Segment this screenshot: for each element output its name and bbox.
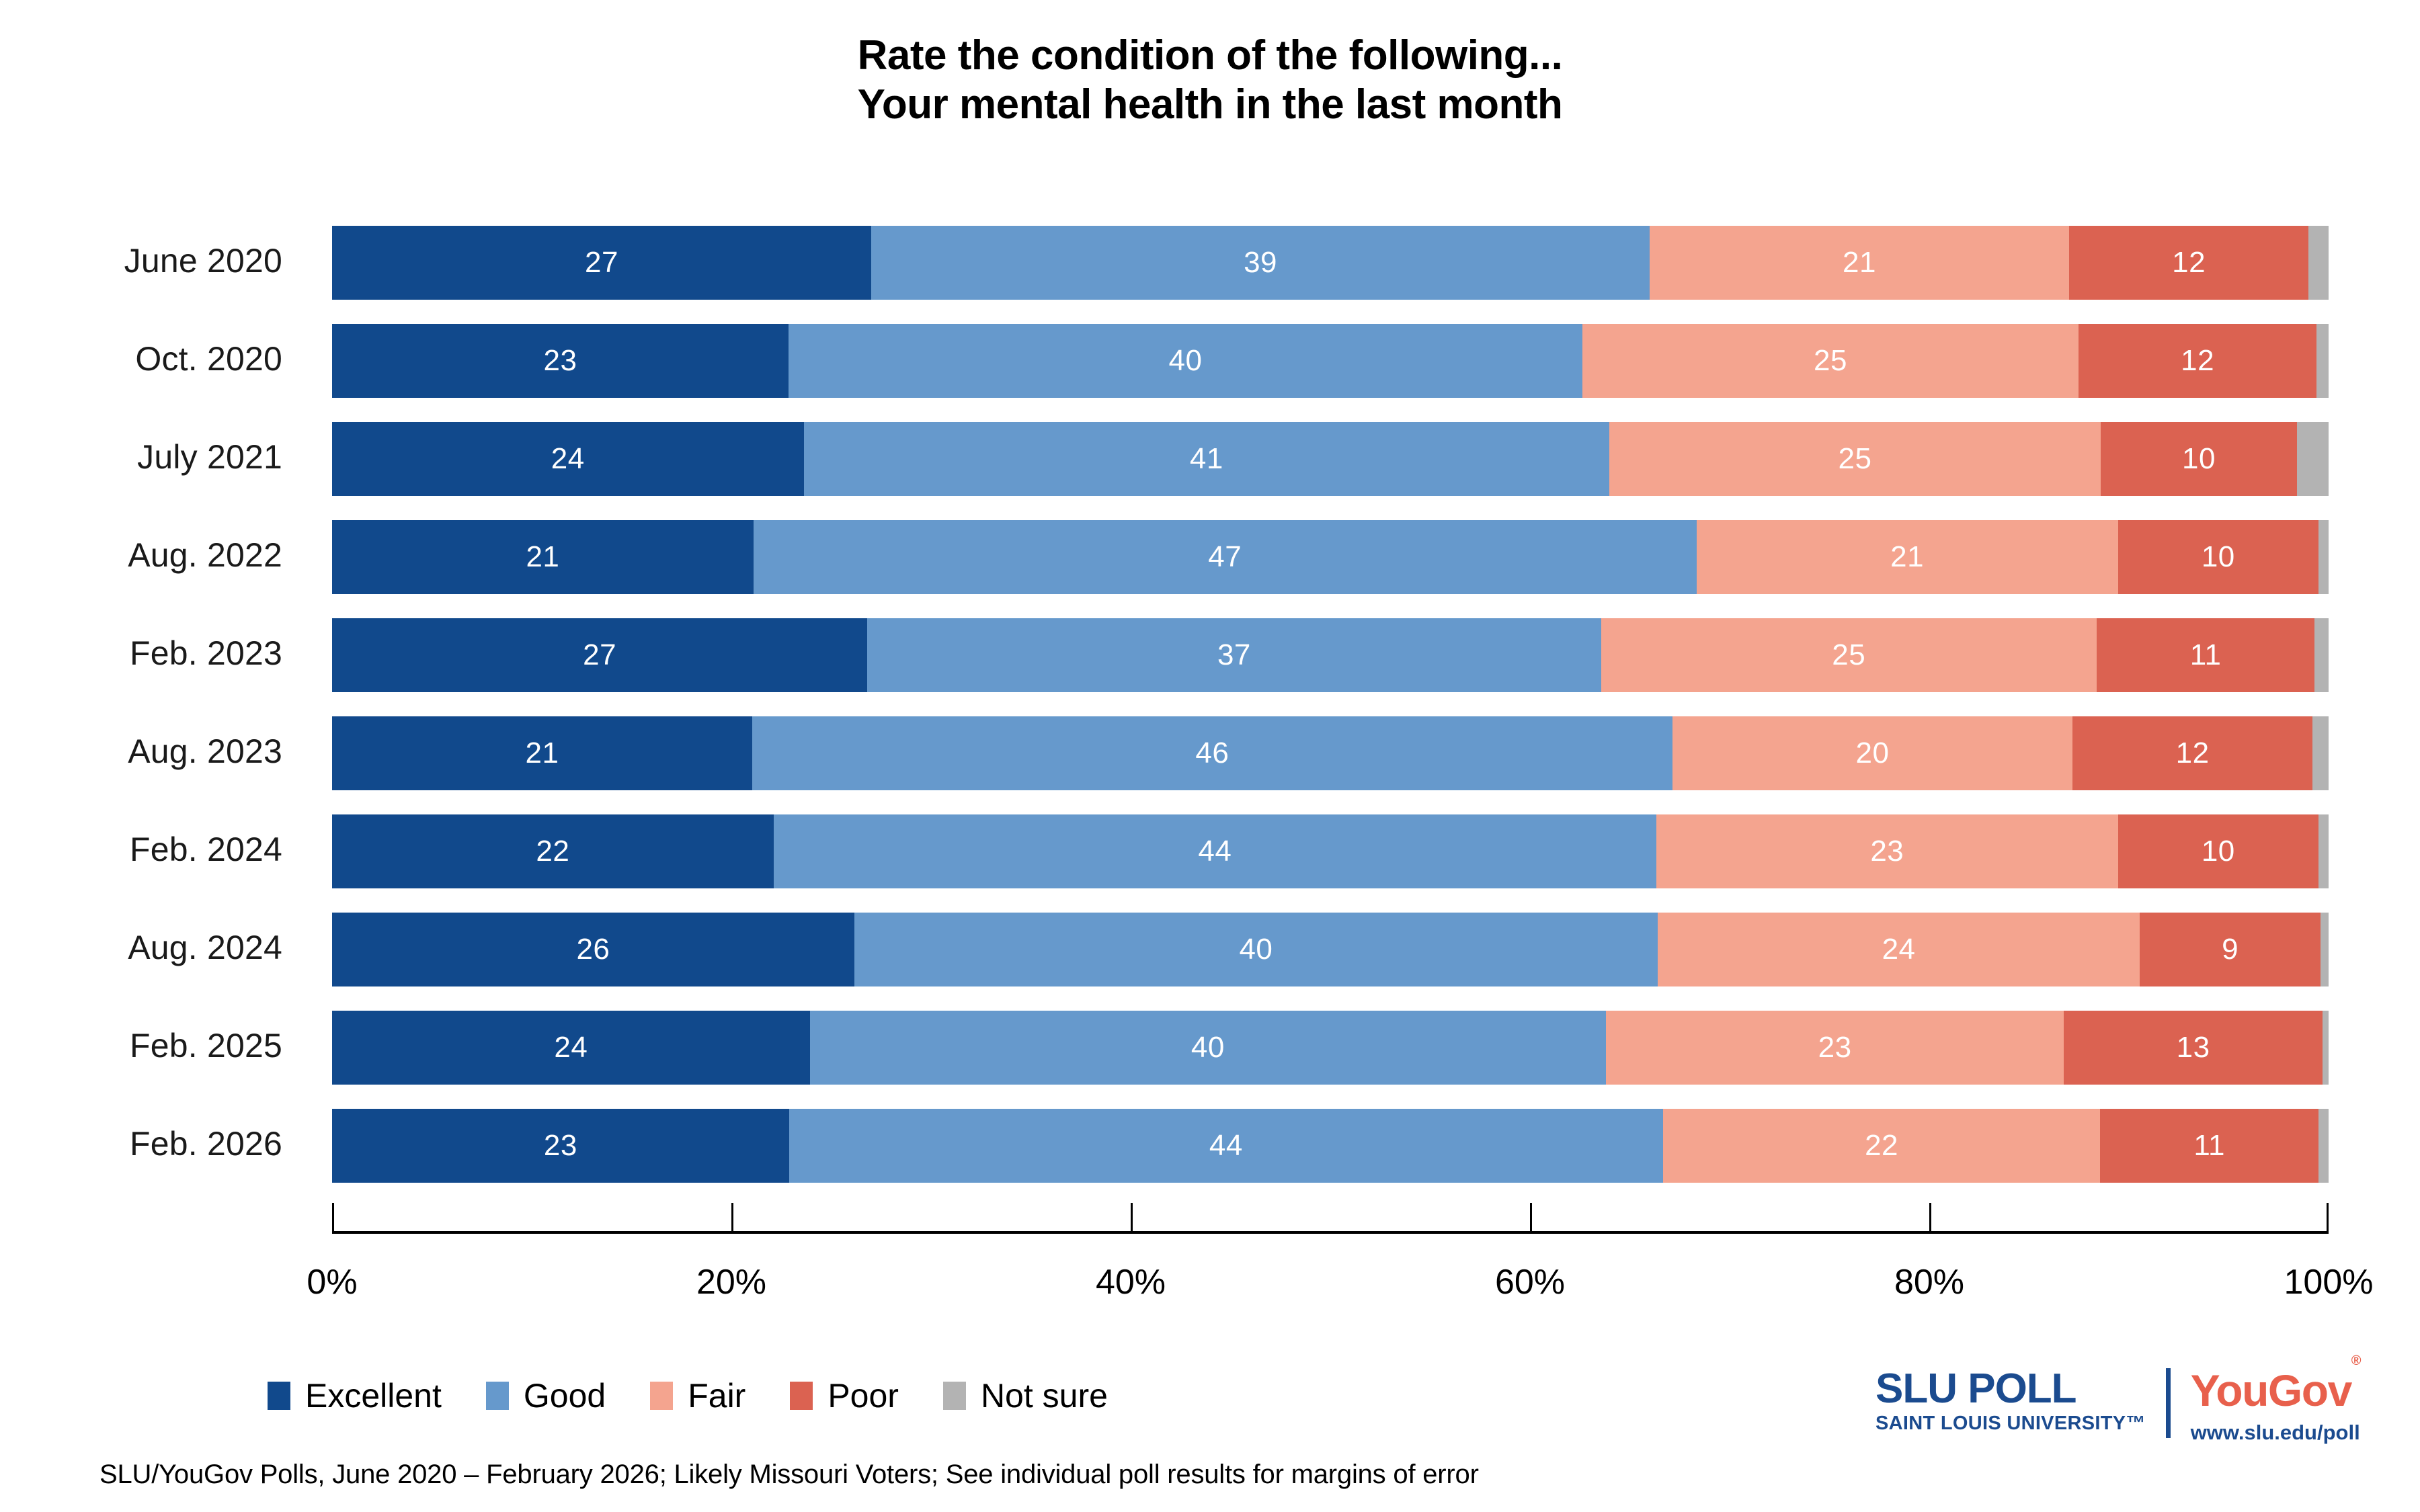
bar-value-label: 46 — [1195, 739, 1229, 768]
x-axis-tick — [2327, 1203, 2329, 1231]
legend-item-excellent[interactable]: Excellent — [268, 1376, 442, 1415]
legend-label: Good — [524, 1376, 606, 1415]
bar-value-label: 23 — [544, 1131, 577, 1161]
bar-segment-not-sure[interactable] — [2318, 1109, 2329, 1183]
bar-segment-excellent[interactable]: 23 — [332, 324, 789, 398]
bar-value-label: 47 — [1208, 542, 1242, 572]
category-label: June 2020 — [124, 241, 282, 280]
bar-value-label: 25 — [1839, 444, 1872, 474]
bar-segment-fair[interactable]: 21 — [1697, 520, 2118, 594]
x-axis-tick-label: 0% — [307, 1262, 357, 1302]
legend-item-good[interactable]: Good — [486, 1376, 606, 1415]
bar-segment-not-sure[interactable] — [2318, 520, 2329, 594]
bar-value-label: 24 — [551, 444, 585, 474]
bar-segment-excellent[interactable]: 27 — [332, 618, 867, 692]
category-label: Aug. 2022 — [128, 536, 282, 575]
category-label: Feb. 2026 — [130, 1124, 282, 1163]
legend-label: Fair — [688, 1376, 745, 1415]
legend-swatch-icon — [486, 1382, 509, 1410]
bar-value-label: 21 — [1890, 542, 1924, 572]
legend-label: Poor — [828, 1376, 899, 1415]
bar-value-label: 23 — [1870, 837, 1904, 866]
x-axis-tick — [1929, 1203, 1931, 1231]
registered-mark-icon: ® — [2351, 1353, 2360, 1368]
bar-value-label: 25 — [1832, 640, 1865, 670]
bar-segment-not-sure[interactable] — [2312, 716, 2329, 790]
legend-swatch-icon — [943, 1382, 966, 1410]
x-axis-tick-label: 80% — [1894, 1262, 1964, 1302]
bar-value-label: 11 — [2190, 640, 2222, 670]
bar-segment-good[interactable]: 44 — [789, 1109, 1663, 1183]
category-label: July 2021 — [137, 437, 282, 476]
bar-segment-poor[interactable]: 9 — [2140, 913, 2321, 986]
bar-value-label: 13 — [2177, 1033, 2210, 1062]
bar-segment-good[interactable]: 40 — [854, 913, 1658, 986]
bar-segment-fair[interactable]: 21 — [1650, 226, 2069, 300]
legend-swatch-icon — [268, 1382, 290, 1410]
category-label: Oct. 2020 — [135, 339, 282, 378]
category-axis-labels: June 2020Oct. 2020July 2021Aug. 2022Feb.… — [0, 214, 309, 1195]
stacked-bar-plot: 2739211223402512244125102147211027372511… — [332, 214, 2329, 1195]
x-axis — [332, 1231, 2329, 1234]
category-label: Feb. 2025 — [130, 1026, 282, 1065]
yougov-logo: YouGov® www.slu.edu/poll — [2191, 1368, 2360, 1443]
bar-segment-excellent[interactable]: 21 — [332, 520, 754, 594]
bar-value-label: 39 — [1244, 248, 1277, 278]
slu-university-text: SAINT LOUIS UNIVERSITY™ — [1876, 1414, 2146, 1433]
bar-segment-good[interactable]: 47 — [754, 520, 1697, 594]
logo-area: SLU POLL SAINT LOUIS UNIVERSITY™ YouGov®… — [1876, 1368, 2386, 1489]
bar-segment-good[interactable]: 44 — [774, 814, 1656, 888]
bar-segment-poor[interactable]: 10 — [2118, 520, 2318, 594]
x-axis-tick-label: 20% — [696, 1262, 766, 1302]
bar-segment-fair[interactable]: 25 — [1601, 618, 2097, 692]
x-axis-tick — [332, 1203, 334, 1231]
bar-value-label: 12 — [2172, 248, 2206, 278]
bar-value-label: 10 — [2202, 837, 2235, 866]
chart-legend: ExcellentGoodFairPoorNot sure — [268, 1376, 1152, 1415]
bar-segment-good[interactable]: 40 — [810, 1011, 1606, 1085]
bar-segment-excellent[interactable]: 27 — [332, 226, 871, 300]
bar-segment-not-sure[interactable] — [2323, 1011, 2329, 1085]
bar-value-label: 40 — [1191, 1033, 1225, 1062]
bar-segment-excellent[interactable]: 24 — [332, 1011, 810, 1085]
bar-row: 27392112 — [332, 226, 2329, 300]
bar-value-label: 21 — [526, 542, 559, 572]
bar-value-label: 12 — [2176, 739, 2210, 768]
title-line-2: Your mental health in the last month — [0, 80, 2420, 129]
bar-value-label: 20 — [1855, 739, 1889, 768]
bar-segment-fair[interactable]: 24 — [1658, 913, 2140, 986]
legend-swatch-icon — [790, 1382, 813, 1410]
bar-segment-not-sure[interactable] — [2316, 324, 2329, 398]
category-label: Feb. 2024 — [130, 830, 282, 869]
bar-segment-poor[interactable]: 10 — [2118, 814, 2318, 888]
bar-segment-poor[interactable]: 10 — [2101, 422, 2297, 496]
bar-value-label: 24 — [554, 1033, 588, 1062]
x-axis-tick — [1530, 1203, 1532, 1231]
bar-segment-fair[interactable]: 22 — [1663, 1109, 2100, 1183]
bar-segment-poor[interactable]: 13 — [2064, 1011, 2323, 1085]
bar-segment-poor[interactable]: 12 — [2072, 716, 2312, 790]
slu-poll-logo: SLU POLL SAINT LOUIS UNIVERSITY™ — [1876, 1368, 2146, 1433]
x-axis-tick-label: 40% — [1096, 1262, 1166, 1302]
bar-segment-fair[interactable]: 20 — [1672, 716, 2072, 790]
legend-item-not-sure[interactable]: Not sure — [943, 1376, 1108, 1415]
bar-row: 23402512 — [332, 324, 2329, 398]
bar-segment-good[interactable]: 41 — [804, 422, 1610, 496]
bar-segment-not-sure[interactable] — [2314, 618, 2329, 692]
bar-segment-excellent[interactable]: 21 — [332, 716, 752, 790]
bar-segment-poor[interactable]: 12 — [2079, 324, 2316, 398]
bar-segment-excellent[interactable]: 22 — [332, 814, 774, 888]
bar-segment-poor[interactable]: 11 — [2097, 618, 2314, 692]
bar-segment-not-sure[interactable] — [2321, 913, 2329, 986]
bar-row: 21462012 — [332, 716, 2329, 790]
bar-value-label: 24 — [1882, 935, 1916, 964]
legend-item-fair[interactable]: Fair — [650, 1376, 745, 1415]
bar-segment-good[interactable]: 40 — [789, 324, 1582, 398]
bar-value-label: 21 — [1843, 248, 1876, 278]
bar-value-label: 37 — [1217, 640, 1251, 670]
bar-segment-excellent[interactable]: 26 — [332, 913, 854, 986]
bar-row: 2640249 — [332, 913, 2329, 986]
bar-value-label: 40 — [1168, 346, 1202, 376]
bar-value-label: 44 — [1209, 1131, 1243, 1161]
bar-segment-excellent[interactable]: 23 — [332, 1109, 789, 1183]
bar-segment-fair[interactable]: 25 — [1609, 422, 2101, 496]
bar-row: 24402313 — [332, 1011, 2329, 1085]
bar-value-label: 11 — [2193, 1131, 2225, 1161]
yougov-wordmark: YouGov® — [2191, 1368, 2360, 1413]
bar-segment-poor[interactable]: 12 — [2069, 226, 2308, 300]
bar-row: 23442211 — [332, 1109, 2329, 1183]
bar-value-label: 44 — [1198, 837, 1232, 866]
bar-row: 21472110 — [332, 520, 2329, 594]
bar-segment-fair[interactable]: 23 — [1656, 814, 2118, 888]
legend-item-poor[interactable]: Poor — [790, 1376, 899, 1415]
bar-value-label: 40 — [1239, 935, 1273, 964]
bar-segment-not-sure[interactable] — [2308, 226, 2329, 300]
bar-segment-not-sure[interactable] — [2297, 422, 2329, 496]
title-line-1: Rate the condition of the following... — [0, 31, 2420, 80]
x-axis-tick — [731, 1203, 733, 1231]
source-note: SLU/YouGov Polls, June 2020 – February 2… — [99, 1460, 1479, 1490]
category-label: Aug. 2024 — [128, 928, 282, 967]
x-axis-tick-label: 60% — [1495, 1262, 1565, 1302]
bar-value-label: 22 — [1865, 1131, 1898, 1161]
chart-title: Rate the condition of the following... Y… — [0, 31, 2420, 129]
logo-divider — [2166, 1368, 2171, 1438]
bar-row: 22442310 — [332, 814, 2329, 888]
bar-value-label: 10 — [2202, 542, 2235, 572]
bar-segment-good[interactable]: 37 — [867, 618, 1601, 692]
bar-segment-fair[interactable]: 25 — [1582, 324, 2079, 398]
slu-poll-wordmark: SLU POLL — [1876, 1368, 2076, 1410]
bar-row: 24412510 — [332, 422, 2329, 496]
bar-segment-poor[interactable]: 11 — [2100, 1109, 2318, 1183]
bar-row: 27372511 — [332, 618, 2329, 692]
bar-segment-good[interactable]: 46 — [752, 716, 1672, 790]
poll-url[interactable]: www.slu.edu/poll — [2191, 1422, 2360, 1443]
chart-page: Rate the condition of the following... Y… — [0, 0, 2420, 1512]
bar-segment-good[interactable]: 39 — [871, 226, 1650, 300]
legend-swatch-icon — [650, 1382, 673, 1410]
bar-value-label: 26 — [576, 935, 610, 964]
bar-value-label: 25 — [1814, 346, 1847, 376]
bar-value-label: 9 — [2222, 935, 2238, 964]
bar-value-label: 10 — [2182, 444, 2216, 474]
x-axis-tick-label: 100% — [2284, 1262, 2374, 1302]
legend-label: Excellent — [305, 1376, 442, 1415]
bar-value-label: 23 — [544, 346, 577, 376]
bar-value-label: 27 — [583, 640, 616, 670]
yougov-text: YouGov — [2191, 1366, 2351, 1415]
bar-value-label: 27 — [585, 248, 618, 278]
bar-value-label: 41 — [1190, 444, 1223, 474]
category-label: Aug. 2023 — [128, 732, 282, 771]
bar-value-label: 12 — [2181, 346, 2214, 376]
bar-segment-not-sure[interactable] — [2318, 814, 2329, 888]
bar-segment-fair[interactable]: 23 — [1606, 1011, 2064, 1085]
x-axis-tick — [1131, 1203, 1133, 1231]
bar-value-label: 23 — [1818, 1033, 1852, 1062]
legend-label: Not sure — [981, 1376, 1108, 1415]
bar-value-label: 22 — [536, 837, 569, 866]
bar-segment-excellent[interactable]: 24 — [332, 422, 804, 496]
category-label: Feb. 2023 — [130, 634, 282, 673]
bar-value-label: 21 — [525, 739, 559, 768]
